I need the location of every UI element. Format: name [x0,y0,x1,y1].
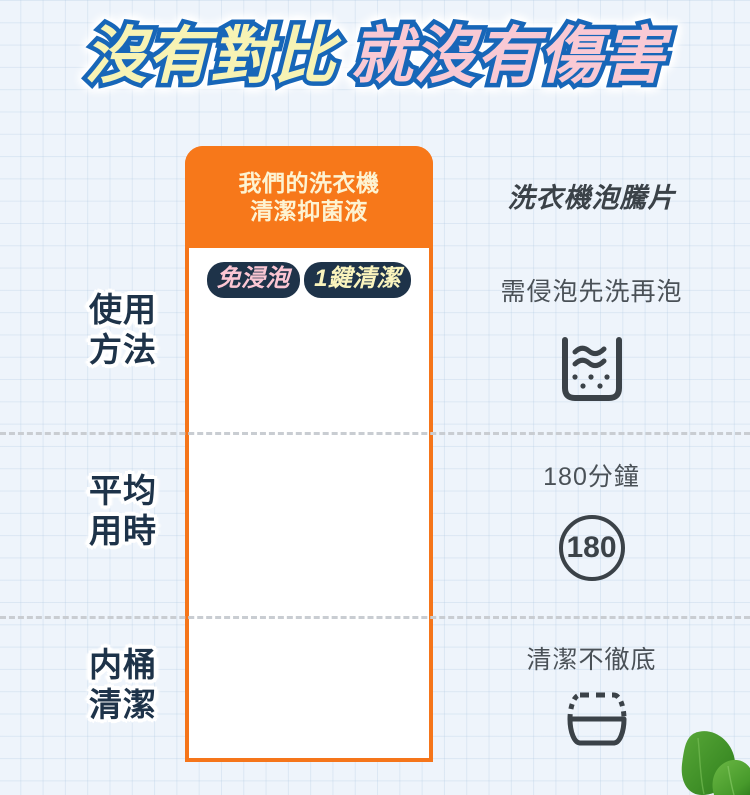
row-label-time-line-1: 平均 [58,471,188,511]
other-usage-icon-wrap [433,330,750,410]
row-label-drum-line-1: 内桶 [58,645,188,685]
row-divider-1 [0,432,750,435]
ours-column-header: 我們的洗衣機 清潔抑菌液 [185,146,433,248]
other-drum-text-wrap: 清潔不徹底 [433,640,750,676]
badge-one-click: 1鍵清潔 [304,262,411,298]
ours-usage-badges: 免浸泡 1鍵清潔 [189,262,429,298]
other-time-number-circle: 180 [559,515,625,581]
ours-column-card: 我們的洗衣機 清潔抑菌液 [185,146,433,762]
ours-header-line-2: 清潔抑菌液 [239,197,380,225]
other-usage-text-wrap: 需侵泡先洗再泡 [433,272,750,308]
row-label-usage-line-2: 方法 [58,330,188,370]
row-label-usage: 使用 方法 [58,290,188,371]
ours-header-line-1: 我們的洗衣機 [239,169,380,197]
other-usage-text: 需侵泡先洗再泡 [500,278,682,306]
other-time-icon-wrap: 180 [433,508,750,588]
other-time-text: 180分鐘 [543,463,640,491]
title-part-2: 就沒有傷害 [351,26,666,88]
page-title: 沒有對比就沒有傷害 [0,26,750,88]
washer-drum-partial-icon [552,688,632,750]
title-part-1: 沒有對比 [84,26,336,88]
row-label-drum-line-2: 清潔 [58,685,188,725]
soak-basin-icon [553,334,631,406]
row-label-time: 平均 用時 [58,471,188,552]
green-leaves-decoration [640,700,750,795]
row-label-drum: 内桶 清潔 [58,645,188,726]
badge-no-soak: 免浸泡 [207,262,301,298]
row-label-time-line-2: 用時 [58,511,188,551]
ours-column-header-text: 我們的洗衣機 清潔抑菌液 [239,169,380,225]
row-divider-2 [0,616,750,619]
row-label-usage-line-1: 使用 [58,290,188,330]
other-column-header: 洗衣機泡騰片 [433,176,750,215]
other-drum-text: 清潔不徹底 [526,646,656,674]
other-time-text-wrap: 180分鐘 [433,457,750,493]
